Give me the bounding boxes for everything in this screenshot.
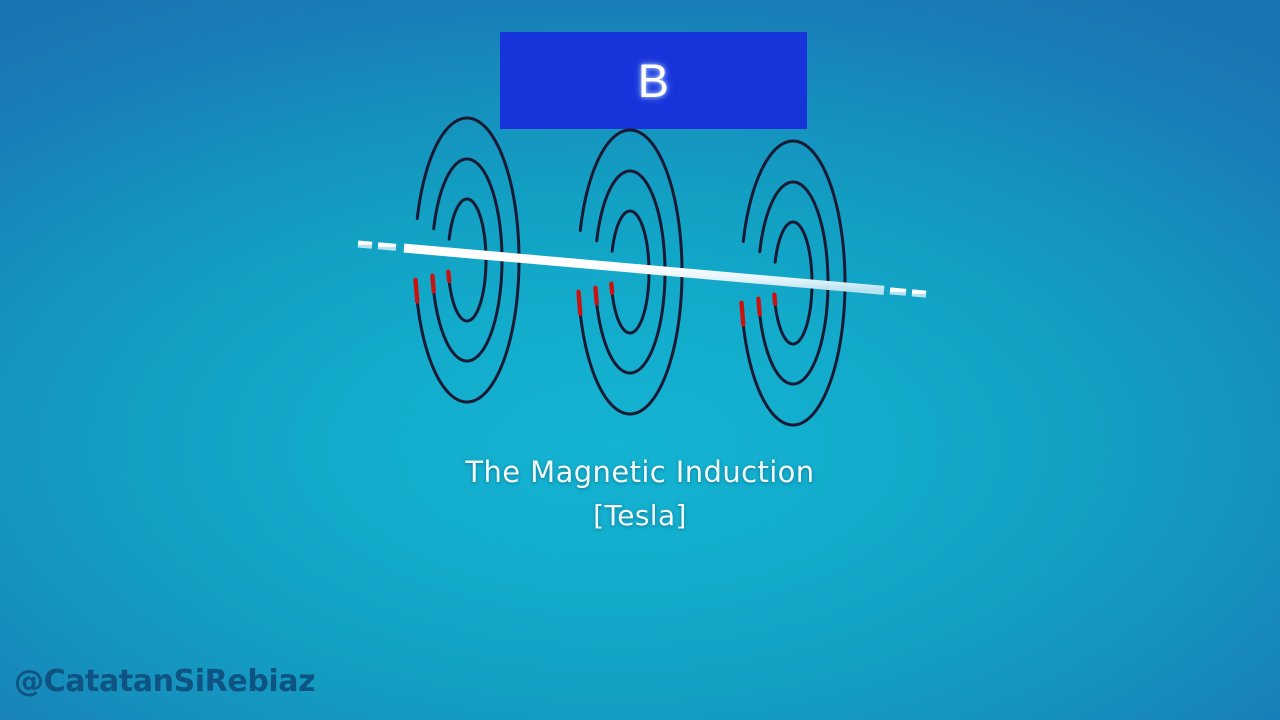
magnetic-field-illustration (0, 0, 1280, 720)
diagram-canvas: B The Magnetic Induction [Tesla] @Catata… (0, 0, 1280, 720)
field-direction-arrowhead (774, 295, 775, 304)
field-direction-arrowhead (611, 284, 612, 293)
wire-dash-right (912, 293, 926, 294)
field-direction-arrowhead (595, 288, 596, 303)
field-direction-arrowhead (432, 276, 433, 291)
field-direction-arrowhead (758, 299, 759, 314)
field-direction-arrowhead (579, 292, 581, 314)
field-line-ring (449, 199, 486, 321)
caption-line-1: The Magnetic Induction (0, 450, 1280, 494)
wire-dash-left (378, 246, 396, 248)
conductor-wire (358, 244, 926, 294)
field-direction-arrowhead (448, 272, 449, 281)
caption-line-2: [Tesla] (0, 494, 1280, 538)
wire-dash-right (890, 291, 906, 292)
field-direction-arrowhead (742, 303, 744, 325)
caption-block: The Magnetic Induction [Tesla] (0, 450, 1280, 538)
wire-dash-left (358, 244, 372, 245)
field-direction-arrowhead (416, 280, 418, 302)
channel-watermark: @CatatanSiRebiaz (14, 664, 315, 699)
